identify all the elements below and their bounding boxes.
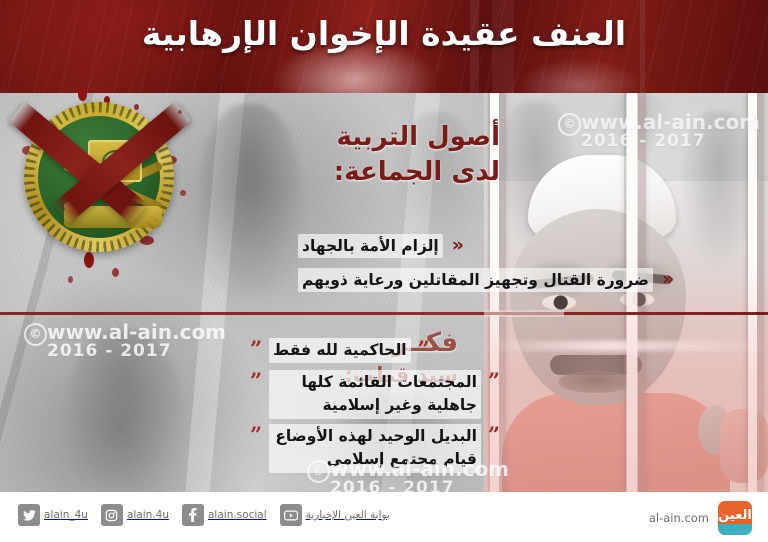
quote-item: ” الحاكمية لله فقط ” [250,338,500,363]
quote-label: البديل الوحيد لهذه الأوضاع قيام مجتمع إس… [269,424,481,473]
blood-splatter [84,252,94,268]
social-link-twitter[interactable]: alain_4u [18,504,88,526]
page-title: العنف عقيدة الإخوان الإرهابية [0,14,768,53]
quote-label: الحاكمية لله فقط [269,338,411,363]
quote-open-icon: ” [418,338,430,360]
social-link-facebook[interactable]: alain.social [182,504,267,526]
social-link-instagram[interactable]: alain.4u [101,504,169,526]
social-link-youtube[interactable]: بوابة العين الإخبارية [280,504,390,526]
chevron-left-icon: « [452,234,464,258]
quote-close-icon: ” [250,370,262,392]
chevron-left-icon: « [662,268,674,292]
footer-bar: alain_4u alain.4u alain.social بوابة الع… [0,492,768,542]
quote-item: ” البديل الوحيد لهذه الأوضاع قيام مجتمع … [250,424,500,473]
quote-item: ” المجتمعات القائمة كلها جاهلية وغير إسل… [250,370,500,419]
quote-open-icon: ” [488,424,500,446]
quote-open-icon: ” [488,370,500,392]
infographic-poster: العنف عقيدة الإخوان الإرهابية أصول الترب… [0,0,768,542]
bullet-item: « إلزام الأمة بالجهاد [298,234,728,258]
header-band: العنف عقيدة الإخوان الإرهابية [0,0,768,93]
social-label: بوابة العين الإخبارية [306,509,390,521]
bullet-item: « ضرورة القتال وتجهيز المقاتلين ورعاية ذ… [298,268,728,292]
muslim-brotherhood-logo-crossed-out [24,102,174,252]
social-label: alain_4u [44,509,88,521]
quote-close-icon: ” [250,338,262,360]
photo-red-tint [484,93,768,492]
instagram-icon [101,504,123,526]
quote-close-icon: ” [250,424,262,446]
section-divider-gap [484,310,564,317]
youtube-icon [280,504,302,526]
blood-splatter [112,268,119,277]
facebook-icon [182,504,204,526]
bullet-label: إلزام الأمة بالجهاد [298,234,443,258]
social-label: alain.4u [127,509,169,521]
blood-splatter [68,276,73,283]
twitter-icon [18,504,40,526]
brand-url: al-ain.com [649,511,709,525]
al-ain-logo-accent [718,524,752,535]
blood-splatter [180,190,186,196]
section-divider [0,312,768,315]
blood-splatter [78,88,87,101]
al-ain-logo[interactable]: العين [718,501,752,535]
section-heading-line1: أصول التربية [280,120,500,155]
section-heading-upbringing: أصول التربية لدى الجماعة: [280,120,500,190]
sayyid-qutb-behind-bars-photo [484,93,768,492]
quote-label: المجتمعات القائمة كلها جاهلية وغير إسلام… [269,370,481,419]
section-heading-line2: لدى الجماعة: [280,155,500,190]
social-links: alain_4u alain.4u alain.social بوابة الع… [18,504,390,526]
bullet-label: ضرورة القتال وتجهيز المقاتلين ورعاية ذوي… [298,268,653,292]
brand-block: al-ain.com العين [649,501,752,535]
social-label: alain.social [208,509,267,521]
